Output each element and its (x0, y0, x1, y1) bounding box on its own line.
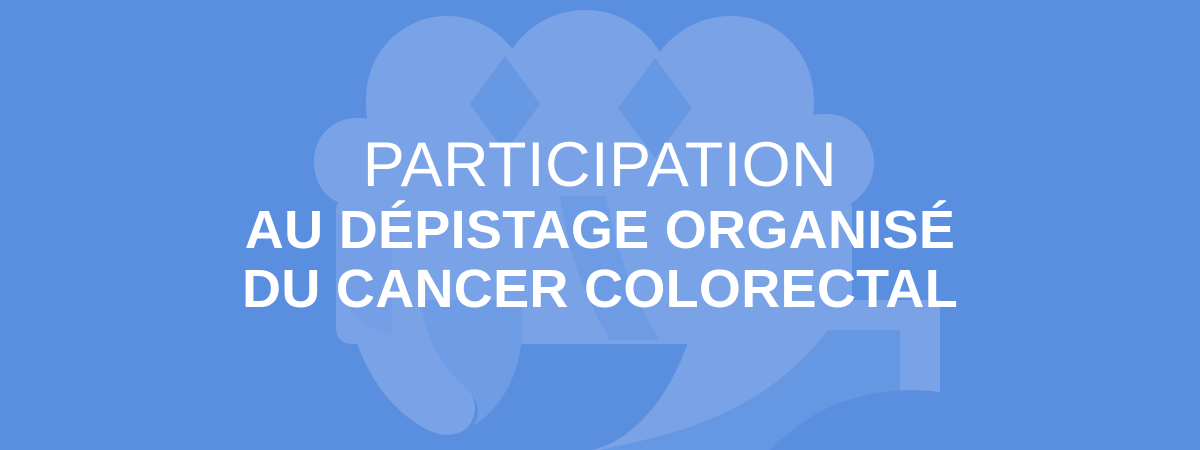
colon-illustration (0, 0, 1200, 450)
screening-participation-banner: PARTICIPATION AU DÉPISTAGE ORGANISÉ DU C… (0, 0, 1200, 450)
